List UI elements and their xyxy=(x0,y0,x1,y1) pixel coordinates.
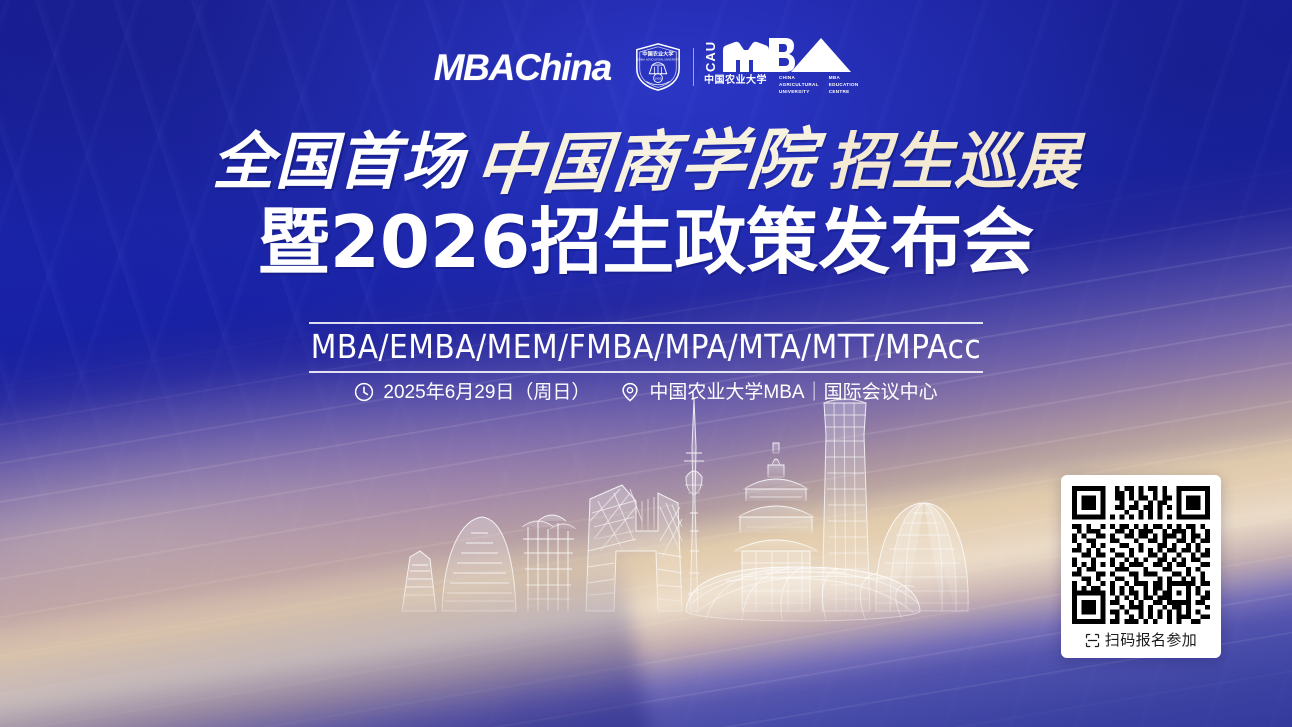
program-list: MBA/EMBA/MEM/FMBA/MPA/MTA/MTT/MPAcc xyxy=(0,322,1292,373)
headline-part-admissions-tour: 招生巡展 xyxy=(828,131,1080,193)
event-venue-text: 中国农业大学MBA｜国际会议中心 xyxy=(649,383,937,402)
logo-divider xyxy=(693,48,694,86)
svg-text:CHINA AGRICULTURAL UNIVERSITY: CHINA AGRICULTURAL UNIVERSITY xyxy=(637,58,679,61)
program-list-text: MBA/EMBA/MEM/FMBA/MPA/MTA/MTT/MPAcc xyxy=(311,329,982,365)
clock-icon xyxy=(354,382,374,402)
cau-caption-right: MBA EDUCATION CENTRE xyxy=(829,75,859,96)
svg-text:1905: 1905 xyxy=(654,76,661,80)
headline-line-1: 全国首场 中国商学院 招生巡展 xyxy=(0,126,1292,198)
logo-row: MBAChina 中国农业大学 CHINA AGRICULTURAL UNIVE… xyxy=(0,38,1292,96)
cau-university-seal-icon: 中国农业大学 CHINA AGRICULTURAL UNIVERSITY 190… xyxy=(633,42,683,92)
event-date-text: 2025年6月29日（周日） xyxy=(383,383,590,402)
headline-line-2: 暨2026招生政策发布会 xyxy=(0,204,1292,280)
cau-vertical-label: CAU xyxy=(704,38,717,72)
event-poster: MBAChina 中国农业大学 CHINA AGRICULTURAL UNIVE… xyxy=(0,0,1292,727)
cau-mba-mark-group: CAU 中国农业大学 xyxy=(704,38,858,96)
cau-name-cn: 中国农业大学 xyxy=(704,75,767,86)
headline-part-national-first: 全国首场 xyxy=(212,131,464,193)
cau-mba-lockup[interactable]: 中国农业大学 CHINA AGRICULTURAL UNIVERSITY 190… xyxy=(633,38,858,96)
scan-frame-icon xyxy=(1085,633,1100,648)
headline-part-business-schools: 中国商学院 xyxy=(472,125,820,198)
event-date: 2025年6月29日（周日） xyxy=(354,382,590,402)
qr-caption-text: 扫码报名参加 xyxy=(1105,633,1197,648)
qr-code-icon[interactable] xyxy=(1072,486,1210,624)
event-venue: 中国农业大学MBA｜国际会议中心 xyxy=(620,382,937,402)
location-pin-icon xyxy=(620,382,640,402)
cau-caption-left: CHINA AGRICULTURAL UNIVERSITY xyxy=(779,75,819,96)
svg-text:中国农业大学: 中国农业大学 xyxy=(642,49,673,57)
program-list-rule-box: MBA/EMBA/MEM/FMBA/MPA/MTA/MTT/MPAcc xyxy=(309,322,984,373)
qr-caption-row: 扫码报名参加 xyxy=(1072,629,1210,651)
headline-block: 全国首场 中国商学院 招生巡展 暨2026招生政策发布会 xyxy=(0,126,1292,280)
mbachina-logo[interactable]: MBAChina xyxy=(434,49,611,86)
event-meta: 2025年6月29日（周日） 中国农业大学MBA｜国际会议中心 xyxy=(0,382,1292,402)
mba-triangle-icon xyxy=(721,38,853,72)
registration-qr-card[interactable]: 扫码报名参加 xyxy=(1061,475,1221,658)
beijing-skyline-icon xyxy=(390,381,930,611)
